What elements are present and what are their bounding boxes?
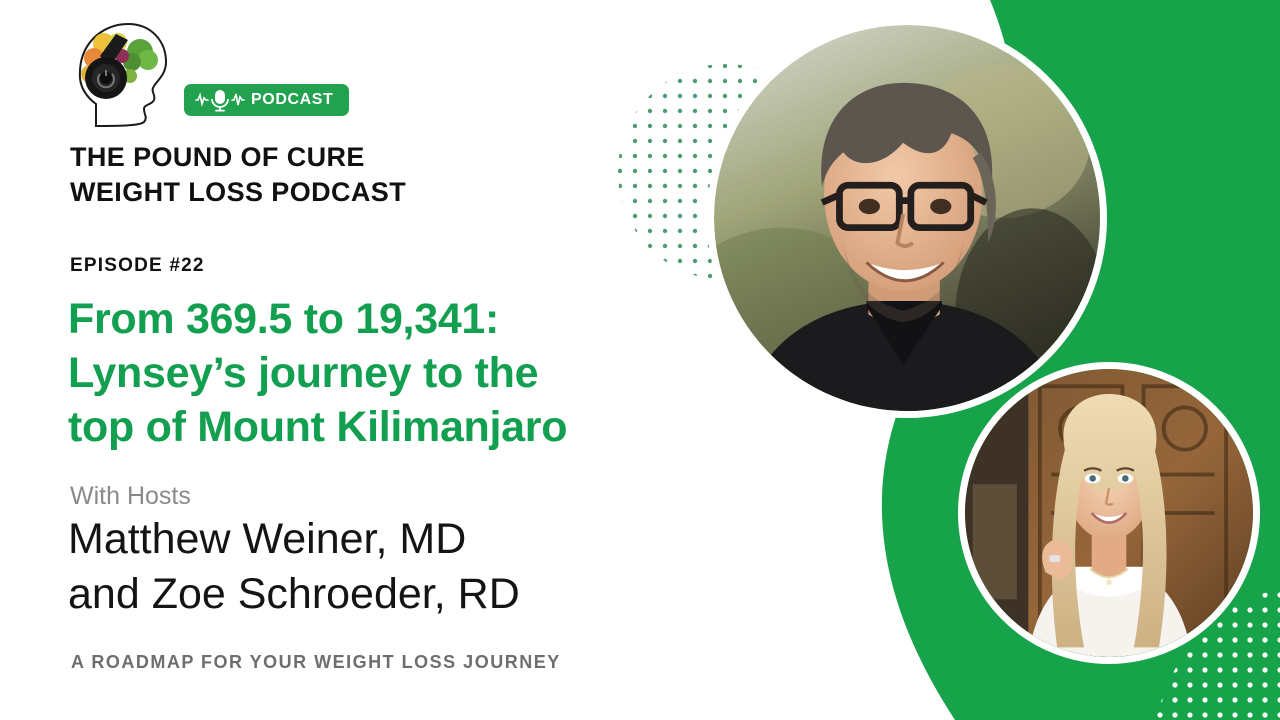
episode-title-line-1: From 369.5 to 19,341: — [68, 292, 708, 346]
show-title-line-1: THE POUND OF CURE — [70, 140, 406, 175]
hosts-names: Matthew Weiner, MD and Zoe Schroeder, RD — [68, 512, 520, 621]
episode-number-label: EPISODE #22 — [70, 255, 205, 277]
brand-row: PODCAST — [70, 14, 349, 132]
show-title: THE POUND OF CURE WEIGHT LOSS PODCAST — [70, 140, 406, 209]
head-with-vegetables-and-headphones-icon — [70, 14, 174, 132]
podcast-cover: PODCAST THE POUND OF CURE WEIGHT LOSS PO… — [0, 0, 1280, 720]
podcast-badge[interactable]: PODCAST — [184, 84, 349, 116]
tagline: A ROADMAP FOR YOUR WEIGHT LOSS JOURNEY — [71, 652, 561, 673]
episode-title-line-3: top of Mount Kilimanjaro — [68, 400, 708, 454]
cover-content: PODCAST THE POUND OF CURE WEIGHT LOSS PO… — [0, 0, 700, 720]
host-name-line-1: Matthew Weiner, MD — [68, 512, 520, 567]
podcast-badge-label: PODCAST — [251, 92, 333, 108]
host-name-line-2: and Zoe Schroeder, RD — [68, 567, 520, 622]
hosts-prefix-label: With Hosts — [70, 482, 191, 511]
microphone-waveform-icon — [194, 88, 246, 112]
episode-title-line-2: Lynsey’s journey to the — [68, 346, 708, 400]
host-matthew-weiner-photo — [707, 18, 1107, 418]
show-title-line-2: WEIGHT LOSS PODCAST — [70, 175, 406, 210]
episode-title: From 369.5 to 19,341: Lynsey’s journey t… — [68, 292, 708, 455]
dot-grid-white — [1140, 590, 1280, 720]
